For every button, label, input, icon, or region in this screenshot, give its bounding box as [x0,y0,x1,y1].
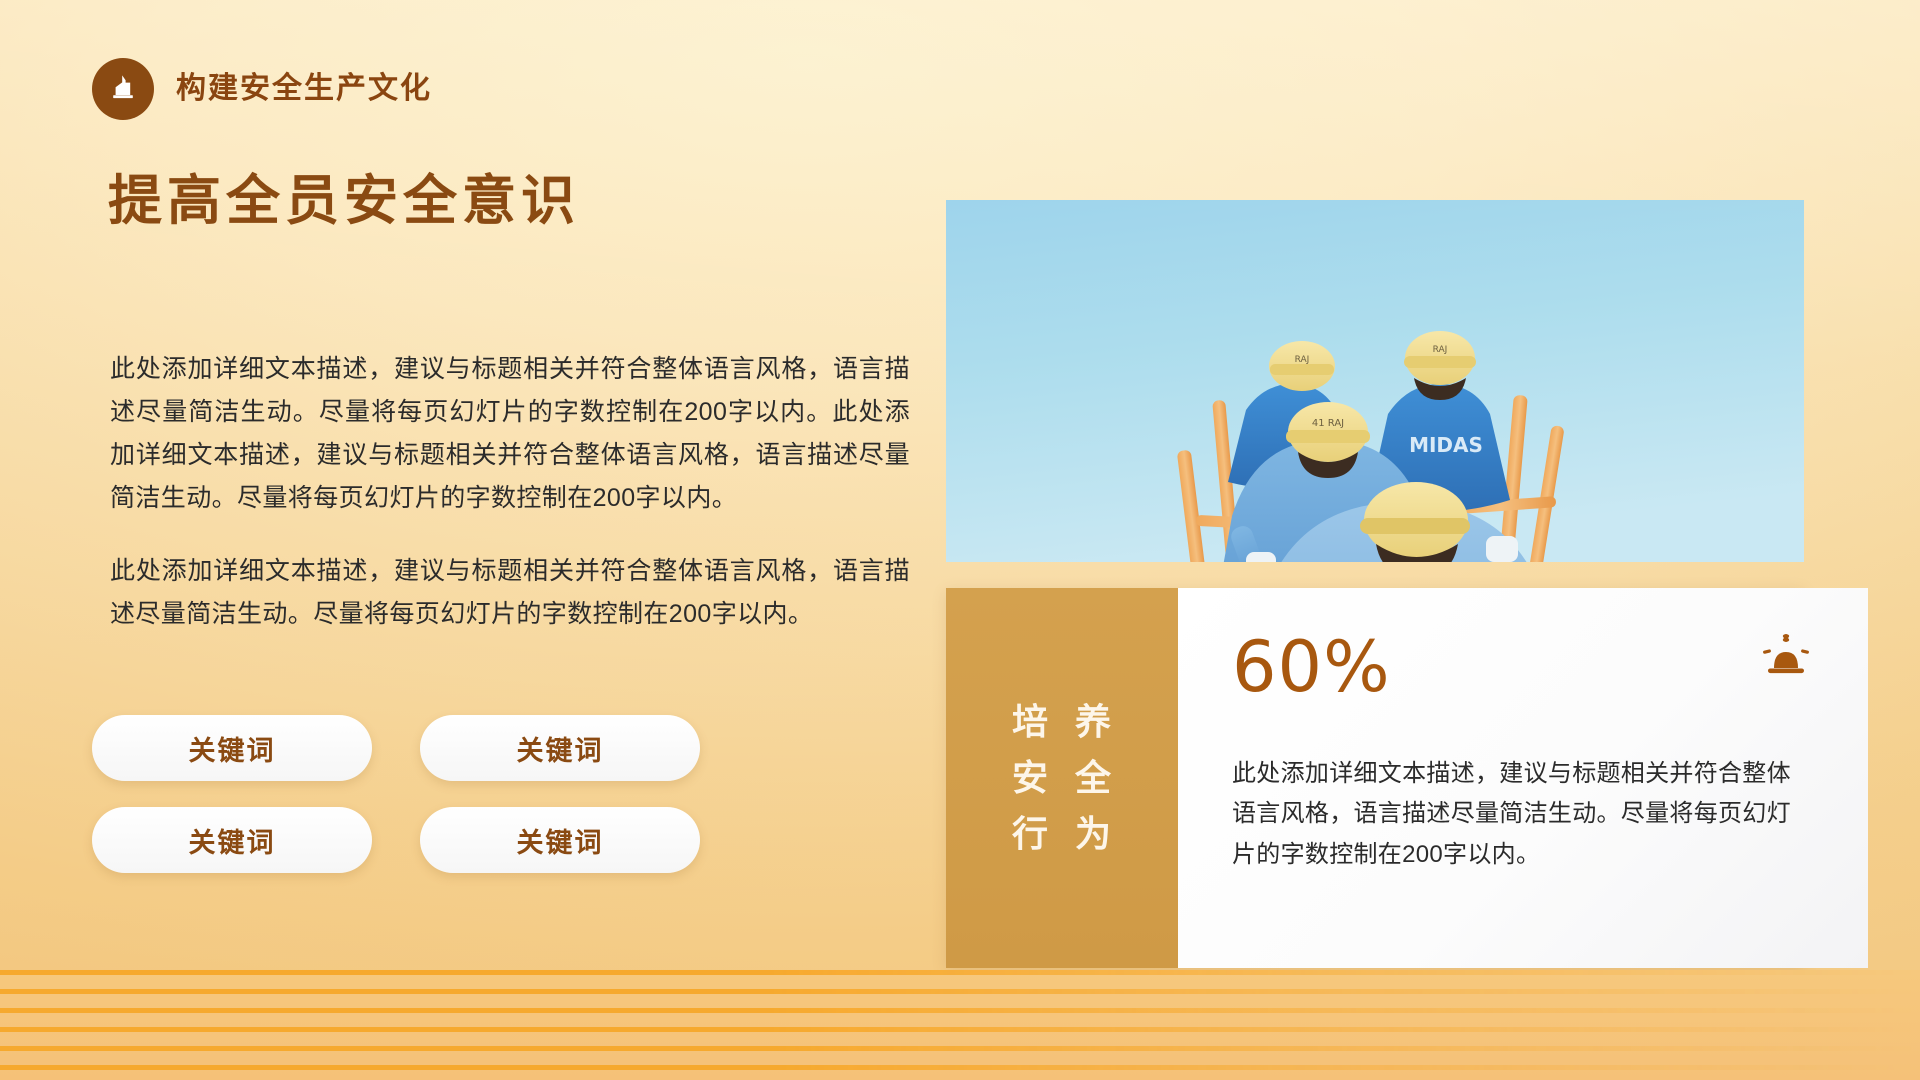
body-paragraph-2: 此处添加详细文本描述，建议与标题相关并符合整体语言风格，语言描述尽量简洁生动。尽… [110,550,910,636]
vertical-label-char-4: 全 [1075,760,1112,796]
keyword-button-3[interactable]: 关键词 [92,807,372,873]
alarm-siren-icon [1760,630,1812,682]
keyword-button-group: 关键词 关键词 关键词 关键词 [92,715,694,873]
vertical-label-char-2: 养 [1075,704,1112,740]
svg-text:41 RAJ: 41 RAJ [1312,418,1344,429]
keyword-button-1[interactable]: 关键词 [92,715,372,781]
body-copy: 此处添加详细文本描述，建议与标题相关并符合整体语言风格，语言描述尽量简洁生动。尽… [110,348,910,636]
slide-canvas: 构建安全生产文化 提高全员安全意识 此处添加详细文本描述，建议与标题相关并符合整… [0,0,1920,1080]
keyword-button-4[interactable]: 关键词 [420,807,700,873]
vertical-label-text: 培 养 安 全 行 为 [1012,704,1112,852]
svg-text:MIDAS: MIDAS [1409,433,1483,457]
slide-header: 构建安全生产文化 [92,58,432,120]
bottom-stripe-decoration [0,970,1920,1080]
stat-value: 60% [1232,632,1812,702]
vertical-label-char-1: 培 [1012,704,1049,740]
stat-card: 60% 此处添加详细文本描述，建议与标题相关并符合整体语言风格，语言描述尽量简洁… [1178,588,1868,968]
stat-module: 培 养 安 全 行 为 60% [946,588,1804,968]
factory-building-icon [106,70,140,109]
vertical-label-char-3: 安 [1012,760,1049,796]
keyword-button-2[interactable]: 关键词 [420,715,700,781]
vertical-label-panel: 培 养 安 全 行 为 [946,588,1178,968]
brand-badge [92,58,154,120]
stat-description: 此处添加详细文本描述，建议与标题相关并符合整体语言风格，语言描述尽量简洁生动。尽… [1232,754,1812,875]
construction-workers-photo: RAJ RAJ MIDAS 41 RAJ [946,200,1804,562]
page-title: 提高全员安全意识 [108,172,580,231]
svg-text:RAJ: RAJ [1295,355,1310,365]
vertical-label-char-6: 为 [1075,816,1112,852]
svg-text:RAJ: RAJ [1433,345,1448,355]
body-paragraph-1: 此处添加详细文本描述，建议与标题相关并符合整体语言风格，语言描述尽量简洁生动。尽… [110,348,910,520]
brand-title: 构建安全生产文化 [176,74,432,104]
vertical-label-char-5: 行 [1012,816,1049,852]
